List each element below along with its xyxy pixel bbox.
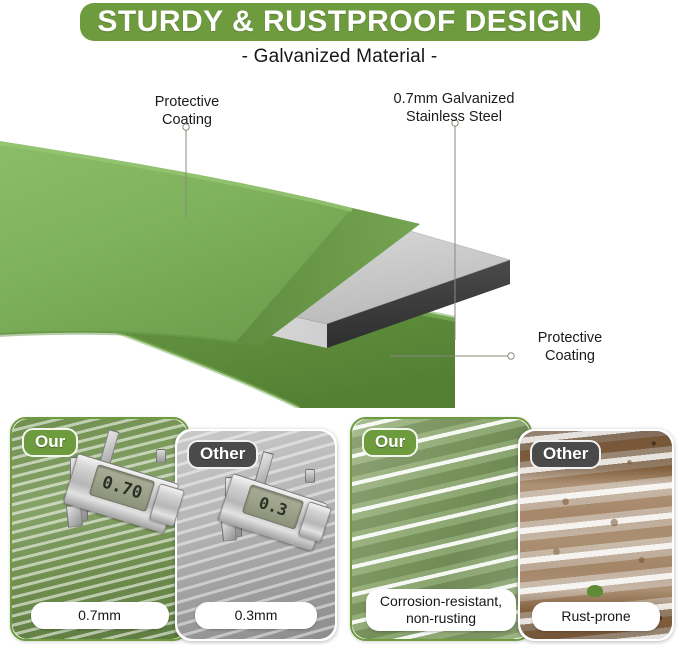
caption-other-corrosion: Rust-prone bbox=[532, 602, 660, 631]
caption-our-corrosion: Corrosion-resistant, non-rusting bbox=[366, 589, 516, 631]
caption-our-corrosion-line2: non-rusting bbox=[406, 610, 476, 626]
badge-our-corrosion: Our bbox=[362, 428, 418, 457]
weed-sprout bbox=[587, 585, 603, 597]
caliper-reading-other: 0.3 bbox=[257, 495, 289, 519]
badge-other-thickness: Other bbox=[187, 440, 258, 469]
panel-our-corrosion: Our Corrosion-resistant, non-rusting bbox=[350, 417, 532, 641]
callout-steel-core: 0.7mm Galvanized Stainless Steel bbox=[378, 91, 530, 126]
badge-other-corrosion: Other bbox=[530, 440, 601, 469]
callout-bottom-coating-line2: Coating bbox=[516, 348, 624, 366]
badge-our-thickness: Our bbox=[22, 428, 78, 457]
callout-top-coating-line2: Coating bbox=[139, 112, 235, 130]
callout-top-coating-line1: Protective bbox=[139, 94, 235, 112]
digital-caliper-our: 0.70 bbox=[64, 427, 182, 547]
callout-bottom-coating: Protective Coating bbox=[516, 330, 624, 365]
panel-other-corrosion: Other Rust-prone bbox=[518, 429, 674, 641]
infographic-root: STURDY & RUSTPROOF DESIGN - Galvanized M… bbox=[0, 0, 679, 645]
callout-top-coating: Protective Coating bbox=[139, 94, 235, 129]
caliper-reading-our: 0.70 bbox=[100, 474, 144, 502]
page-subtitle: - Galvanized Material - bbox=[0, 46, 679, 68]
caption-other-thickness: 0.3mm bbox=[195, 602, 317, 629]
callout-bottom-coating-line1: Protective bbox=[516, 330, 624, 348]
callout-steel-core-line1: 0.7mm Galvanized bbox=[378, 91, 530, 109]
panel-our-thickness: 0.70 Our 0.7mm bbox=[10, 417, 189, 641]
header-banner: STURDY & RUSTPROOF DESIGN bbox=[80, 3, 600, 41]
caption-our-corrosion-line1: Corrosion-resistant, bbox=[380, 593, 502, 609]
panel-other-thickness: 0.3 Other 0.3mm bbox=[175, 429, 337, 641]
exploded-layer-diagram: Protective Coating 0.7mm Galvanized Stai… bbox=[0, 78, 679, 408]
callout-steel-core-line2: Stainless Steel bbox=[378, 109, 530, 127]
comparison-panels: 0.70 Our 0.7mm 0.3 bbox=[0, 412, 679, 645]
page-title: STURDY & RUSTPROOF DESIGN bbox=[97, 7, 582, 37]
caption-our-thickness: 0.7mm bbox=[31, 602, 169, 629]
